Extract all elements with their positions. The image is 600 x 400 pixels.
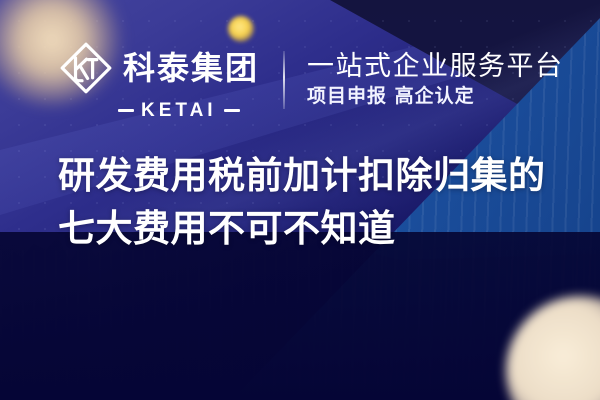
header-divider xyxy=(283,51,285,109)
dash-left-icon xyxy=(118,109,134,112)
brand-name-en-row: KETAI xyxy=(118,101,240,120)
brand-logo-row: 科泰集团 xyxy=(58,40,259,96)
ketai-diamond-kt-monogram-icon xyxy=(58,40,114,96)
page-title: 研发费用税前加计扣除归集的七大费用不可不知道 xyxy=(58,150,558,255)
promo-banner: 科泰集团 KETAI 一站式企业服务平台 项目申报 高企认定 研发费用税前加计扣… xyxy=(0,0,600,400)
brand-name-en: KETAI xyxy=(141,101,217,120)
dash-right-icon xyxy=(224,109,240,112)
tagline-primary: 一站式企业服务平台 xyxy=(307,53,564,81)
tagline-secondary: 项目申报 高企认定 xyxy=(307,86,564,107)
brand-name-cn: 科泰集团 xyxy=(123,52,259,84)
banner-header: 科泰集团 KETAI 一站式企业服务平台 项目申报 高企认定 xyxy=(58,40,564,120)
tagline-group: 一站式企业服务平台 项目申报 高企认定 xyxy=(307,53,564,106)
brand-logo[interactable]: 科泰集团 KETAI xyxy=(58,40,259,120)
